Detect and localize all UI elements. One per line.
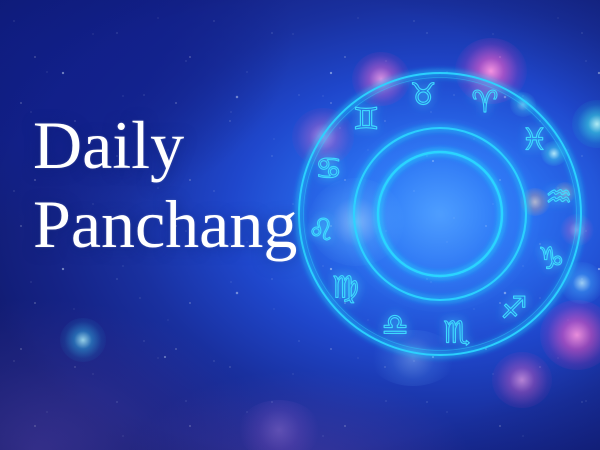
page-title: Daily Panchang bbox=[33, 112, 297, 257]
banner-image: ♈♉♊♋♌♍♎♏♐♑♒♓ Daily Panchang bbox=[0, 0, 600, 450]
title-line-2: Panchang bbox=[33, 191, 297, 258]
title-line-1: Daily bbox=[33, 112, 297, 179]
